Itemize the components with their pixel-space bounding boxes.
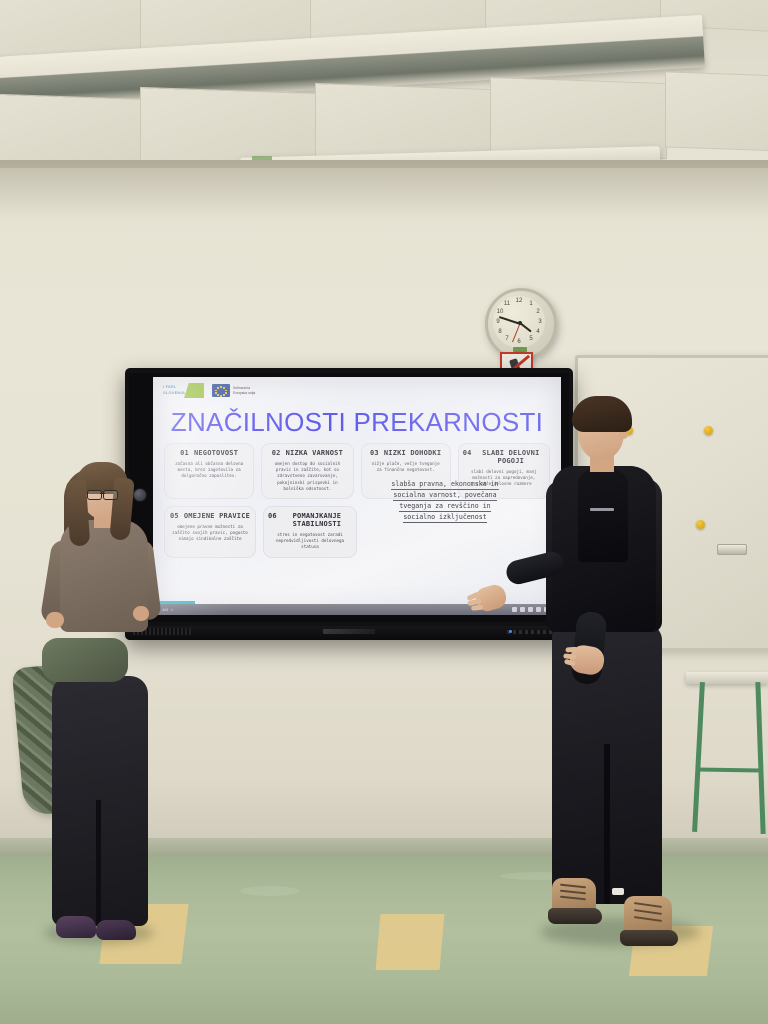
card-01[interactable]: 01 NEGOTOVOST začasna ali občasna delovn… [164, 443, 254, 499]
clock-number: 2 [533, 309, 543, 316]
eu-logo-text: Sofinancira Evropska unija [233, 386, 255, 395]
stool-leg [692, 682, 705, 832]
clock-number: 12 [514, 298, 524, 305]
display-screen[interactable]: I FEEL SLOVENIA [153, 377, 561, 615]
right-shoe [96, 920, 136, 940]
card-05[interactable]: 05 OMEJENE PRAVICE omejene pravne možnos… [164, 506, 256, 558]
slovenia-green-shape-icon [184, 383, 204, 398]
left-shoe [56, 916, 96, 938]
card-title: SLABI DELOVNI POGOJI [477, 449, 545, 465]
card-number: 02 [272, 449, 281, 457]
card-title: NEGOTOVOST [194, 449, 238, 457]
display-brand-label [323, 629, 375, 634]
boot-sole [620, 930, 678, 946]
wall-shadow [0, 160, 768, 220]
annotation-line-4: socialno izključenost [403, 513, 486, 523]
eu-logo-line-2: Evropska unija [233, 391, 255, 395]
eu-flag-icon [212, 384, 230, 397]
handwritten-annotation: slabša pravna, ekonomska in socialna var… [365, 479, 525, 523]
card-header: 03 NIZKI DOHODKI [366, 449, 446, 457]
card-body: začasna ali občasna delovna mesta, brez … [169, 461, 249, 480]
card-header: 01 NEGOTOVOST [169, 449, 249, 457]
boot-sole [548, 908, 602, 924]
magnet-icon[interactable] [696, 520, 705, 529]
clock-number: 4 [533, 329, 543, 336]
t-shirt-print [590, 508, 614, 511]
glasses-left-lens-icon [87, 490, 102, 500]
i-feel-slovenia-logo: I FEEL SLOVENIA [162, 383, 204, 398]
logo-line-2: SLOVENIA [163, 390, 185, 395]
card-body: stres in negotovost zaradi nepredvidljiv… [268, 532, 352, 551]
page-indicator: 4/4 [162, 607, 168, 612]
clock-center-pin [518, 321, 522, 325]
clock-number: 7 [502, 336, 512, 343]
plaid-shirt-knot [42, 638, 128, 682]
card-title: OMEJENE PRAVICE [184, 512, 250, 520]
card-number: 01 [180, 449, 189, 457]
eu-cofunding-logo: Sofinancira Evropska unija [212, 384, 255, 397]
slide-title: ZNAČILNOSTI PREKARNOSTI [153, 407, 561, 438]
card-header: 02 NIZKA VARNOST [266, 449, 348, 457]
whiteboard-eraser[interactable] [717, 544, 747, 555]
clock-number: 6 [514, 339, 524, 346]
ceiling [0, 0, 768, 178]
card-header: 05 OMEJENE PRAVICE [169, 512, 251, 520]
stool-crossbar [698, 767, 760, 772]
clock-number: 3 [535, 319, 545, 326]
card-header: 06 POMANJKANJE STABILNOSTI [268, 512, 352, 528]
card-title: NIZKI DOHODKI [384, 449, 441, 457]
pen-icon[interactable] [520, 607, 525, 612]
wall-clock: 12 1 2 3 4 5 6 7 8 9 10 11 [485, 288, 557, 360]
card-body: omejen dostop do socialnih pravic in zaš… [266, 461, 348, 492]
left-boot [548, 878, 604, 930]
right-boot [620, 896, 682, 954]
boot-upper [552, 878, 596, 912]
glasses-bridge-icon [100, 493, 105, 494]
leg-gap [96, 800, 101, 926]
annotation-line-2: socialna varnost, povečana [393, 491, 496, 501]
card-body: omejene pravne možnosti za zaščito svoji… [169, 524, 251, 543]
hair [572, 396, 632, 432]
card-number: 06 [268, 512, 277, 520]
shapes-icon[interactable] [536, 607, 541, 612]
card-number: 03 [370, 449, 379, 457]
boot-upper [624, 896, 672, 934]
stool[interactable] [686, 672, 768, 838]
card-body: nižje plače, večje tveganje za finančno … [366, 461, 446, 473]
leg-gap [604, 744, 610, 904]
stool-leg [755, 682, 765, 834]
next-page-button[interactable]: > [171, 607, 173, 612]
floor-accent-tile [376, 914, 445, 970]
left-hand [46, 612, 64, 628]
right-hand [133, 606, 149, 621]
card-header: 04 SLABI DELOVNI POGOJI [463, 449, 545, 465]
card-number: 05 [170, 512, 179, 520]
magnet-icon[interactable] [704, 426, 713, 435]
card-02[interactable]: 02 NIZKA VARNOST omejen dostop do social… [261, 443, 353, 499]
clock-number: 10 [495, 309, 505, 316]
card-06[interactable]: 06 POMANJKANJE STABILNOSTI stres in nego… [263, 506, 357, 558]
clock-number: 8 [495, 329, 505, 336]
slide-logos: I FEEL SLOVENIA [162, 383, 255, 398]
annotation-line-1: slabša pravna, ekonomska in [391, 480, 498, 490]
display-left-button[interactable] [133, 488, 147, 502]
sock [612, 888, 624, 895]
card-title: POMANJKANJE STABILNOSTI [282, 512, 352, 528]
classroom-scene: 12 1 2 3 4 5 6 7 8 9 10 11 [0, 0, 768, 1024]
clock-number: 9 [493, 319, 503, 326]
eraser-icon[interactable] [528, 607, 533, 612]
undo-icon[interactable] [512, 607, 517, 612]
power-led-icon [509, 630, 512, 633]
clock-number: 5 [526, 336, 536, 343]
card-title: NIZKA VARNOST [286, 449, 343, 457]
card-number: 04 [463, 449, 472, 457]
glasses-right-lens-icon [103, 490, 118, 500]
t-shirt [578, 470, 628, 562]
clock-number: 11 [502, 301, 512, 308]
annotation-line-3: tveganja za revščino in [399, 502, 490, 512]
logo-line-1: I FEEL [163, 384, 177, 389]
clock-number: 1 [526, 301, 536, 308]
